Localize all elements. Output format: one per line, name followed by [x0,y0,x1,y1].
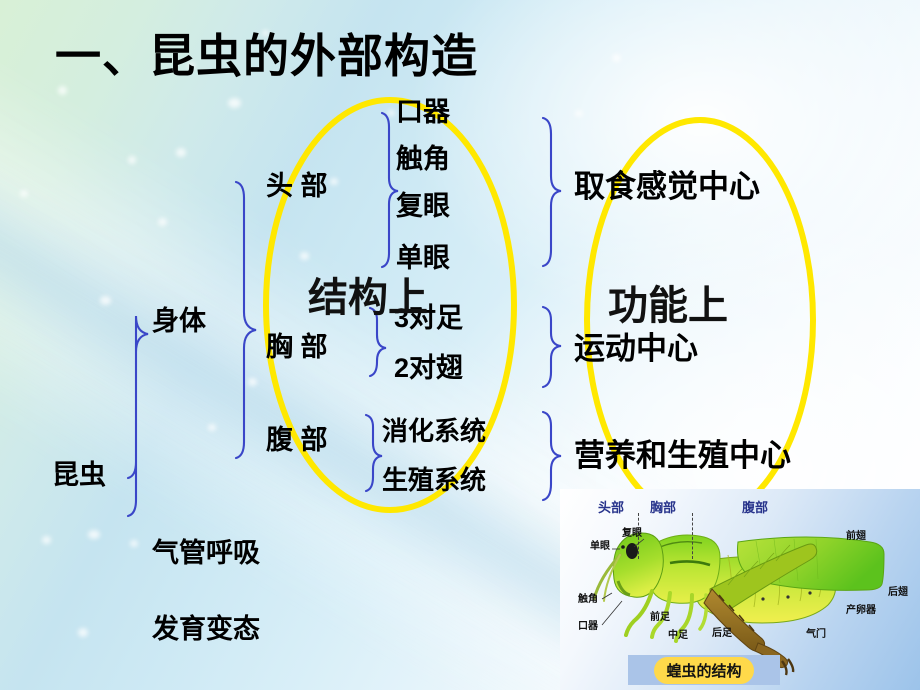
part-compound-eyes: 复眼 [396,193,450,220]
bokeh-dot [388,110,395,116]
bokeh-dot [100,296,111,305]
bokeh-dot [248,378,257,386]
bokeh-dot [128,156,136,164]
slide-canvas: 一、昆虫的外部构造 昆虫 身体 气管呼吸 发育变态 头 部 胸 部 腹 部 口器… [0,0,920,690]
page-title: 一、昆虫的外部构造 [55,33,478,79]
figure-label-hind-leg: 后足 [712,629,732,639]
bokeh-dot [158,218,167,226]
bokeh-dot [176,148,186,157]
node-metamorphosis: 发育变态 [152,616,260,643]
bokeh-dot [78,628,88,637]
node-root-insect: 昆虫 [52,462,106,489]
brace-root [120,312,145,486]
node-tracheal-respiration: 气管呼吸 [152,540,260,567]
figure-caption-text: 蝗虫的结构 [654,657,753,684]
part-reproductive-system: 生殖系统 [382,467,486,493]
node-segment-head: 头 部 [266,173,328,200]
bokeh-dot [575,110,583,117]
figure-label-spiracle: 气门 [806,630,826,640]
brace-function-abdomen [543,412,561,500]
bokeh-dot [88,530,100,539]
figure-label-antenna: 触角 [578,595,598,605]
part-mouthparts: 口器 [396,99,450,126]
label-structure: 结构上 [308,278,428,318]
figure-label-hindwing: 后翅 [888,588,908,598]
brace-abdomen-parts [366,415,382,491]
bokeh-dot [612,54,621,62]
bokeh-dot [58,86,67,95]
node-segment-abdomen: 腹 部 [266,427,328,454]
node-body: 身体 [152,308,206,335]
brace-body [236,182,256,458]
bokeh-dot [300,252,309,260]
figure-caption-box: 蝗虫的结构 [628,655,780,685]
bokeh-dot [208,424,216,431]
brace-function-head [543,118,561,266]
bokeh-dot [228,98,241,108]
grasshopper-figure: 头部 胸部 腹部 复眼 单眼 触角 口器 前足 中足 后足 前翅 后翅 产卵器 … [560,489,920,690]
figure-label-simple-eye: 单眼 [590,542,610,552]
figure-label-head-segment: 头部 [598,501,624,514]
part-two-pairs-wings: 2对翅 [394,355,463,382]
bokeh-dot [20,190,28,197]
divider-thorax-abdomen [692,513,693,559]
brace-function-thorax [543,307,561,387]
bokeh-dot [130,540,138,547]
figure-label-compound-eye: 复眼 [622,529,642,539]
function-thorax: 运动中心 [574,333,698,364]
figure-label-thorax-segment: 胸部 [650,501,676,514]
label-function: 功能上 [608,286,728,326]
bokeh-dot [330,178,338,185]
function-head: 取食感觉中心 [574,171,760,202]
figure-label-forewing: 前翅 [846,532,866,542]
figure-label-abdomen-segment: 腹部 [742,501,768,514]
figure-label-front-leg: 前足 [650,613,670,623]
figure-label-ovipositor: 产卵器 [846,606,876,616]
brace-root-stroke [128,316,148,516]
part-digestive-system: 消化系统 [382,418,486,444]
node-segment-thorax: 胸 部 [266,334,328,361]
part-antennae: 触角 [396,146,450,173]
function-abdomen: 营养和生殖中心 [574,440,791,471]
figure-label-mouthparts: 口器 [578,622,598,632]
part-simple-eyes: 单眼 [396,245,450,272]
figure-label-middle-leg: 中足 [668,631,688,641]
bokeh-dot [42,536,51,544]
